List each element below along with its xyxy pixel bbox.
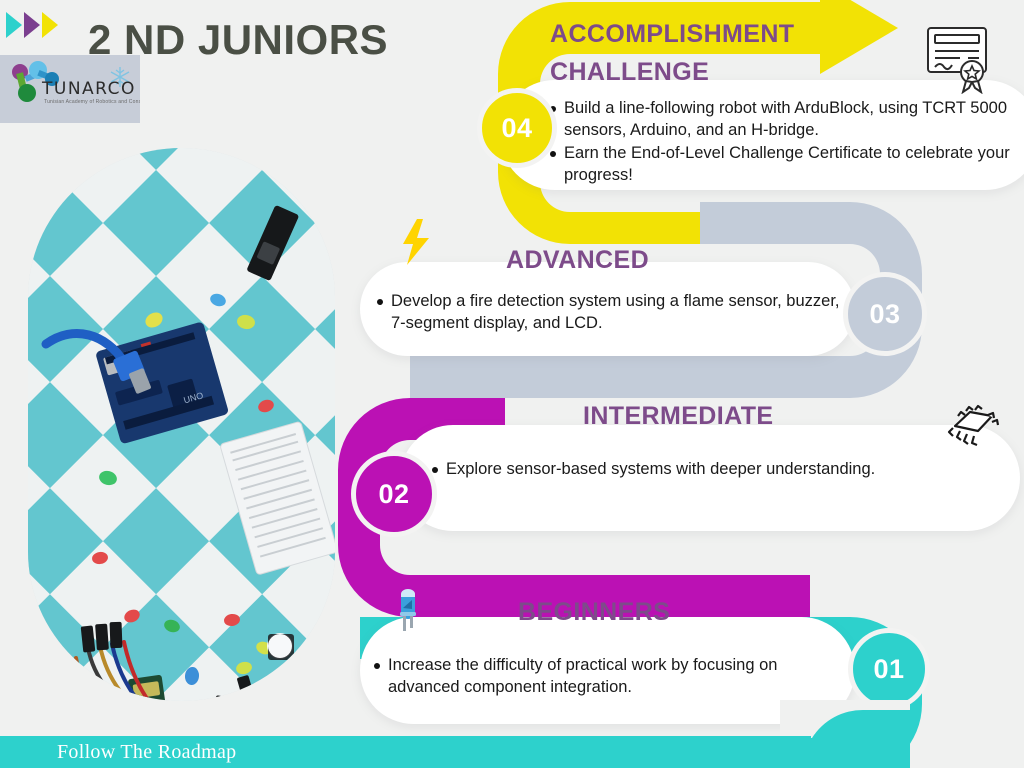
logo-tagline: Tunisian Academy of Robotics and Consult…	[44, 99, 140, 105]
step-title-01: BEGINNERS	[518, 598, 670, 627]
step-number-02: 02	[351, 451, 437, 537]
step-number-01: 01	[848, 628, 930, 710]
bullet-item: Earn the End-of-Level Challenge Certific…	[548, 143, 1024, 187]
step-number-04: 04	[477, 88, 557, 168]
led-icon	[392, 588, 424, 634]
step-title-04-line1: ACCOMPLISHMENT	[550, 20, 794, 49]
footer-label: Follow The Roadmap	[57, 741, 236, 764]
step-title-02: INTERMEDIATE	[583, 402, 773, 431]
step-number-03: 03	[843, 272, 927, 356]
step-title-03: ADVANCED	[506, 246, 649, 275]
certificate-icon	[922, 22, 996, 94]
step-title-04-line2: CHALLENGE	[550, 58, 709, 87]
logo-wordmark: TUNARCO	[42, 79, 136, 99]
triple-chevron-right-icon	[4, 8, 60, 42]
lightning-bolt-icon	[398, 218, 434, 266]
arduino-components-photo: UNO	[28, 148, 335, 701]
infographic-canvas: 2 ND JUNIORS	[0, 0, 1024, 768]
bullet-item: Increase the difficulty of practical wor…	[372, 655, 832, 699]
step-bullets-04: Build a line-following robot with ArduBl…	[548, 98, 1024, 188]
bullet-item: Develop a fire detection system using a …	[375, 291, 845, 335]
step-bullets-03: Develop a fire detection system using a …	[375, 291, 845, 336]
step-bullets-02: Explore sensor-based systems with deeper…	[430, 459, 990, 482]
step-bullets-01: Increase the difficulty of practical wor…	[372, 655, 832, 700]
ic-chip-icon	[944, 404, 1002, 450]
bullet-item: Build a line-following robot with ArduBl…	[548, 98, 1024, 142]
logo-container: TUNARCO Tunisian Academy of Robotics and…	[0, 55, 140, 123]
bullet-item: Explore sensor-based systems with deeper…	[430, 459, 990, 481]
